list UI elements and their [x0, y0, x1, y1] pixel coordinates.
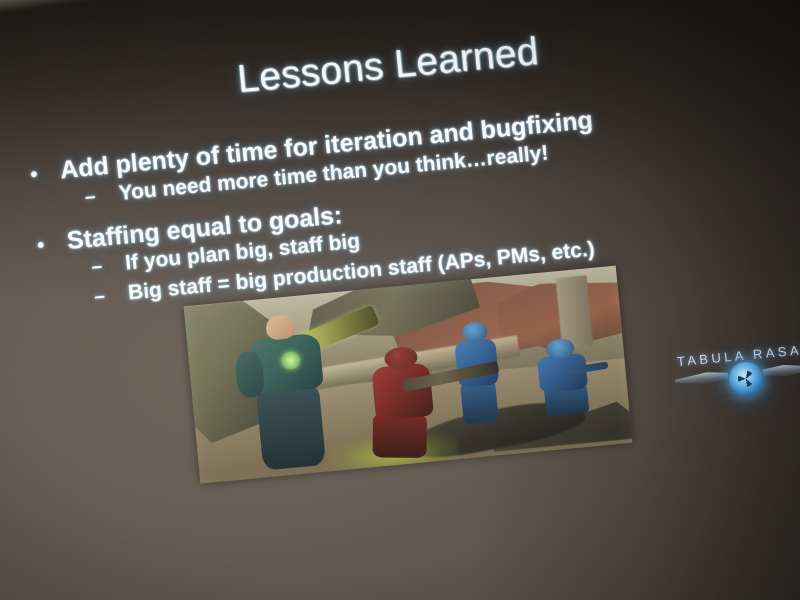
- red-legs: [373, 413, 427, 458]
- game-screenshot: [184, 266, 633, 484]
- bullet-marker-dot: •: [30, 161, 62, 187]
- blue-a-legs: [460, 380, 499, 425]
- slide-title: Lessons Learned: [177, 24, 599, 107]
- logo-wing-left-icon: [674, 369, 729, 387]
- character-hero-soldier: [224, 310, 351, 473]
- tabula-rasa-logo: TABULA RASA ∙∙∙∙∙∙: [670, 337, 800, 412]
- bullet-marker-dash: –: [91, 254, 127, 279]
- projected-slide-photo: Lessons Learned • Add plenty of time for…: [0, 0, 800, 600]
- bullet-marker-dot: •: [36, 232, 68, 258]
- character-red-soldier: [358, 343, 455, 461]
- logo-subtitle: ∙∙∙∙∙∙: [716, 389, 742, 397]
- logo-wing-right-icon: [762, 361, 800, 379]
- game-scene: [184, 266, 633, 484]
- red-torso: [372, 363, 434, 421]
- slide-content-plane: Lessons Learned • Add plenty of time for…: [0, 0, 800, 600]
- hero-legs: [256, 385, 326, 470]
- character-blue-soldier-b: [531, 335, 603, 416]
- bullet-marker-dash: –: [93, 284, 129, 309]
- bullet-marker-dash: –: [84, 184, 120, 209]
